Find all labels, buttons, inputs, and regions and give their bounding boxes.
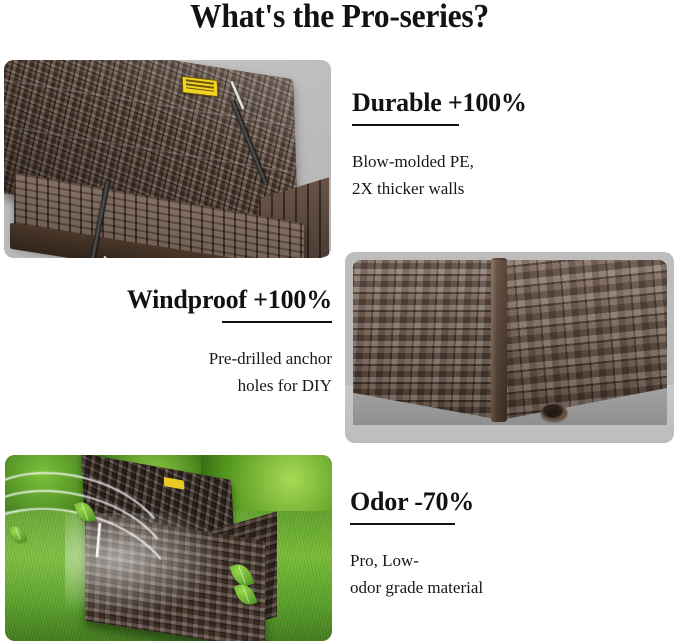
feature-text-durable: Durable +100% Blow-molded PE, 2X thicker… [352,88,672,202]
feature-body-line: Pro, Low- [350,547,670,574]
feature-body-line: 2X thicker walls [352,175,672,202]
feature-body-line: odor grade material [350,574,670,601]
rattan-texture [353,260,501,420]
anchor-hole-icon [541,404,567,421]
feature-heading-odor: Odor -70% [350,487,670,517]
feature-image-durable [4,60,331,258]
heading-rule [222,321,332,323]
feature-body-odor: Pro, Low- odor grade material [350,547,670,601]
heading-rule [352,124,459,126]
feature-body-windproof: Pre-drilled anchor holes for DIY [10,345,332,399]
box-corner-left-face [353,260,501,420]
heading-rule [350,523,455,525]
feature-body-line: Blow-molded PE, [352,148,672,175]
feature-body-line: Pre-drilled anchor [10,345,332,372]
feature-page: What's the Pro-series? Dur [0,0,679,644]
box-corner-edge [491,258,507,422]
feature-image-odor [5,455,332,641]
feature-body-durable: Blow-molded PE, 2X thicker walls [352,148,672,202]
feature-image-windproof [345,252,674,443]
page-title: What's the Pro-series? [24,0,655,36]
feature-body-line: holes for DIY [10,372,332,399]
feature-text-windproof: Windproof +100% Pre-drilled anchor holes… [10,285,332,399]
feature-text-odor: Odor -70% Pro, Low- odor grade material [350,487,670,601]
feature-heading-windproof: Windproof +100% [10,285,332,315]
feature-heading-durable: Durable +100% [352,88,672,118]
